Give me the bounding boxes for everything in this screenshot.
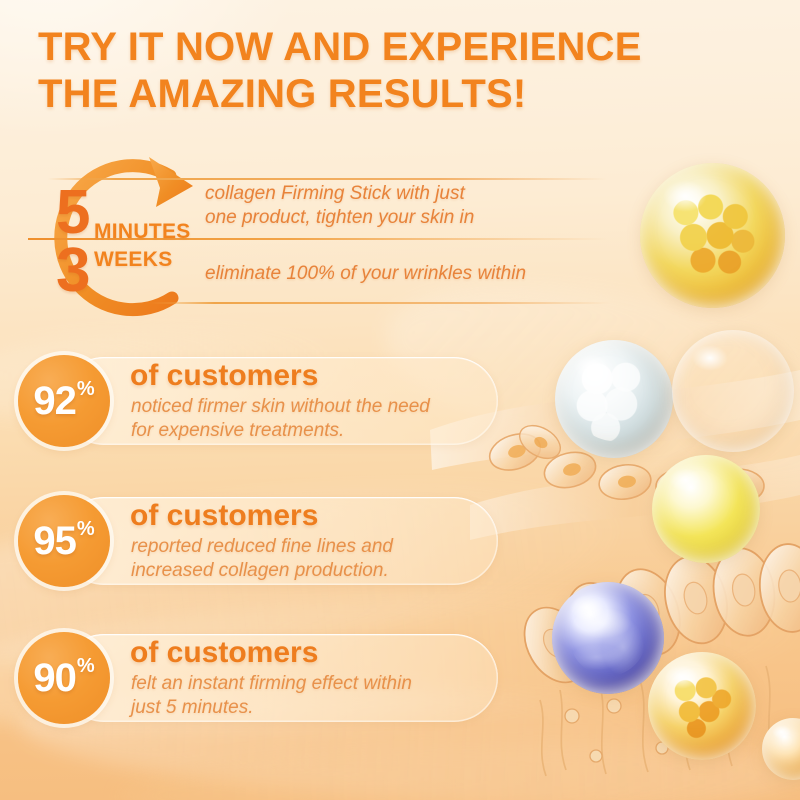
timeline-text-minutes-line1: collagen Firming Stick with just bbox=[205, 182, 605, 206]
amber-pearl-orb bbox=[672, 330, 794, 452]
percent-symbol-icon-90: % bbox=[77, 656, 95, 676]
yellow-serum-orb bbox=[652, 455, 760, 563]
stat-description-95-line1: reported reduced fine lines and bbox=[131, 535, 501, 559]
stat-description-90: felt an instant firming effect within ju… bbox=[131, 672, 501, 720]
page-title: TRY IT NOW AND EXPERIENCE THE AMAZING RE… bbox=[38, 24, 768, 118]
stat-percent-value-90: 90 bbox=[33, 658, 76, 698]
percent-symbol-icon-92: % bbox=[77, 379, 95, 399]
small-accent-orb bbox=[762, 718, 800, 780]
timeline-divider-top bbox=[48, 178, 608, 180]
bubble-silver-orb bbox=[555, 340, 673, 458]
stat-badge-92: 92 % bbox=[18, 355, 110, 447]
timeline-unit-weeks: WEEKS bbox=[94, 248, 173, 272]
stat-title-92: of customers bbox=[130, 361, 318, 391]
stat-description-95: reported reduced fine lines and increase… bbox=[131, 535, 501, 583]
timeline-text-minutes: collagen Firming Stick with just one pro… bbox=[205, 182, 605, 231]
honeycomb-yellow-orb bbox=[640, 163, 785, 308]
timeline-unit-minutes: MINUTES bbox=[94, 220, 191, 244]
timeline-number-minutes: 5 bbox=[56, 182, 90, 244]
stat-percent-value-95: 95 bbox=[33, 521, 76, 561]
stat-title-95: of customers bbox=[130, 501, 318, 531]
timeline-arrow-block: 5 MINUTES collagen Firming Stick with ju… bbox=[20, 150, 620, 325]
stat-title-90: of customers bbox=[130, 638, 318, 668]
stat-percent-value-92: 92 bbox=[33, 381, 76, 421]
percent-symbol-icon-95: % bbox=[77, 519, 95, 539]
stat-row-92: 92 % of customers noticed firmer skin wi… bbox=[18, 355, 498, 447]
stat-row-95: 95 % of customers reported reduced fine … bbox=[18, 495, 498, 587]
timeline-text-minutes-line2: one product, tighten your skin in bbox=[205, 206, 605, 230]
headline-line-1: TRY IT NOW AND EXPERIENCE bbox=[38, 24, 768, 71]
stat-description-92-line2: for expensive treatments. bbox=[131, 419, 501, 443]
timeline-text-weeks: eliminate 100% of your wrinkles within bbox=[205, 262, 625, 286]
stat-description-92-line1: noticed firmer skin without the need bbox=[131, 395, 501, 419]
timeline-number-weeks: 3 bbox=[56, 240, 90, 302]
timeline-divider-bottom bbox=[150, 302, 610, 304]
stat-badge-95: 95 % bbox=[18, 495, 110, 587]
stat-description-95-line2: increased collagen production. bbox=[131, 559, 501, 583]
headline-line-2: THE AMAZING RESULTS! bbox=[38, 71, 768, 118]
stat-description-90-line1: felt an instant firming effect within bbox=[131, 672, 501, 696]
stat-badge-90: 90 % bbox=[18, 632, 110, 724]
stat-description-90-line2: just 5 minutes. bbox=[131, 696, 501, 720]
stat-description-92: noticed firmer skin without the need for… bbox=[131, 395, 501, 443]
promo-poster: TRY IT NOW AND EXPERIENCE THE AMAZING RE… bbox=[0, 0, 800, 800]
blue-swirl-orb bbox=[552, 582, 664, 694]
stat-row-90: 90 % of customers felt an instant firmin… bbox=[18, 632, 498, 724]
honeycomb-orange-orb bbox=[648, 652, 756, 760]
